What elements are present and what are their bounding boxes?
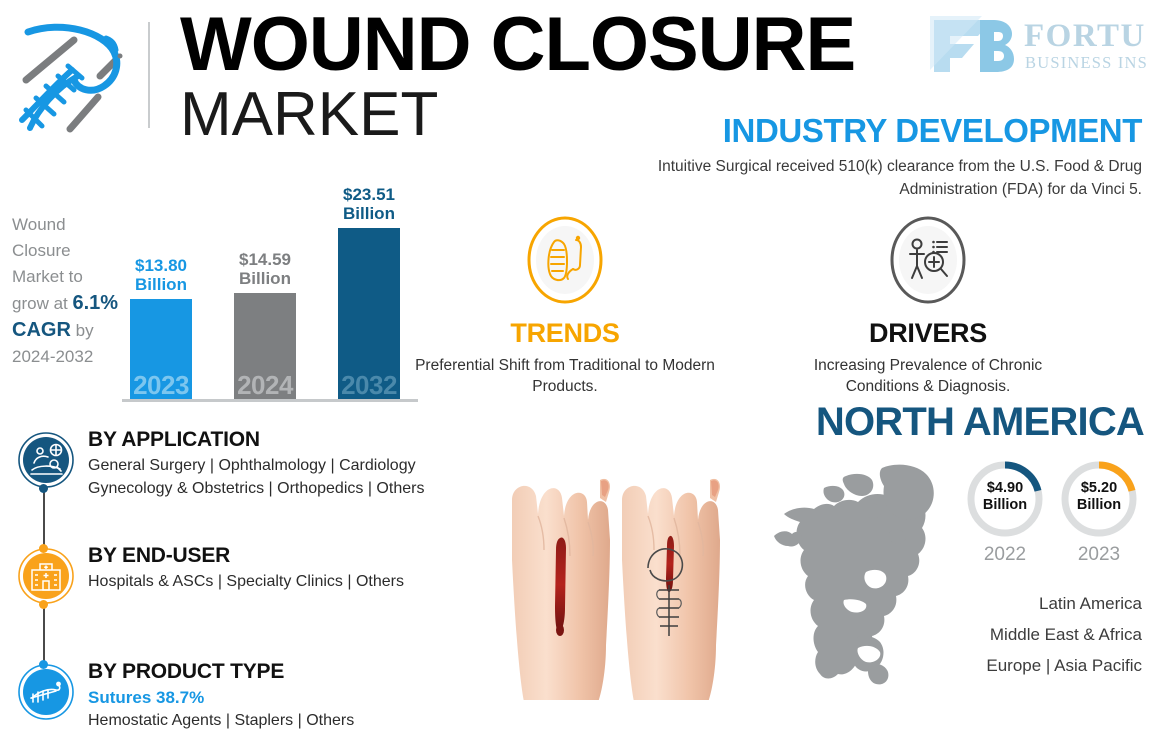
drivers-callout: DRIVERS Increasing Prevalence of Chronic… [778,216,1078,397]
bar-year-2024: 2024 [234,370,296,401]
trends-body: Preferential Shift from Traditional to M… [415,355,715,397]
cagr-by: by [76,321,94,340]
drivers-body: Increasing Prevalence of Chronic Conditi… [778,355,1078,397]
brand-name: FORTUNE [1024,18,1146,54]
cagr-period: 2024-2032 [12,347,93,366]
cagr-word: CAGR [12,319,71,341]
region-item-mea: Middle East & Africa [812,619,1142,650]
title-main: WOUND CLOSURE [180,8,920,82]
donut-2023-value: $5.20 [1081,480,1117,496]
bar-2023: 2023 [130,299,192,399]
infographic-page: WOUND CLOSURE MARKET FORTUNE BUSINESS IN… [0,0,1160,700]
trends-callout: TRENDS Preferential Shift from Tradition… [415,216,715,397]
fortune-business-insights-logo: FORTUNE BUSINESS INSIGHTS [928,8,1146,82]
patient-magnifier-checklist-icon [889,216,967,308]
region-title: NORTH AMERICA [816,400,1144,445]
donut-2022-year: 2022 [964,544,1046,566]
segment-heading-product-type: BY PRODUCT TYPE [88,660,488,684]
sutured-hand [622,479,720,700]
donut-2022-value: $4.90 [987,480,1023,496]
segment-items-product-type: Hemostatic Agents | Staplers | Others [88,709,488,732]
trends-heading: TRENDS [415,318,715,349]
bar-label-2032: $23.51 Billion [322,185,416,223]
bar-2032: 2032 [338,228,400,399]
segment-items-application-line2: Gynecology & Obstetrics | Orthopedics | … [88,477,488,500]
wounded-hand-and-sutured-hand-illustration [460,440,760,700]
bar-label-2023: $13.80 Billion [114,256,208,294]
cagr-rate: 6.1% [72,292,118,314]
region-item-europe-apac: Europe | Asia Pacific [812,650,1142,681]
segment-connector-2 [43,604,45,664]
other-regions-list: Latin America Middle East & Africa Europ… [812,588,1142,681]
bar-label-2024: $14.59 Billion [218,250,312,288]
donut-2023-year: 2023 [1058,544,1140,566]
market-size-bar-chart: $13.80 Billion 2023 $14.59 Billion 2024 … [122,210,422,402]
segment-connector-1 [43,488,45,548]
header-divider [148,22,150,128]
donut-2023: $5.20 Billion [1058,458,1140,540]
region-item-latin-america: Latin America [812,588,1142,619]
segment-heading-end-user: BY END-USER [88,544,488,568]
donut-2022-unit: Billion [983,497,1027,513]
bar-2024: 2024 [234,293,296,399]
segment-highlight-sutures: Sutures 38.7% [88,686,488,709]
fb-monogram-icon [930,16,1014,72]
industry-development-body: Intuitive Surgical received 510(k) clear… [612,155,1142,201]
segment-items-end-user: Hospitals & ASCs | Specialty Clinics | O… [88,570,488,593]
brand-tagline: BUSINESS INSIGHTS [1025,53,1146,72]
hospital-building-icon [18,548,74,604]
suture-needle-icon [12,14,134,136]
bar-year-2023: 2023 [130,370,192,401]
industry-development-title: INDUSTRY DEVELOPMENT [723,112,1142,150]
drivers-heading: DRIVERS [778,318,1078,349]
suture-wound-needle-icon [526,216,604,308]
donut-2022: $4.90 Billion [964,458,1046,540]
suture-thread-icon [18,664,74,720]
surgery-operation-icon [18,432,74,488]
segmentation-list: BY APPLICATION General Surgery | Ophthal… [18,432,488,682]
wounded-hand [512,479,610,700]
donut-2023-unit: Billion [1077,497,1121,513]
segment-heading-application: BY APPLICATION [88,428,488,452]
bar-year-2032: 2032 [338,370,400,401]
segment-items-application-line1: General Surgery | Ophthalmology | Cardio… [88,454,488,477]
cagr-statement: Wound Closure Market to grow at 6.1% CAG… [12,212,120,370]
